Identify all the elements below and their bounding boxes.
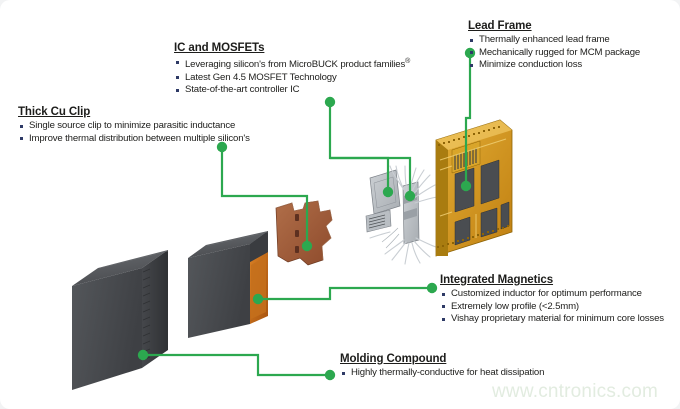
dot-integrated-magnetics-label — [427, 283, 437, 293]
bullet-item: Single source clip to minimize parasitic… — [18, 120, 250, 133]
callout-bullets-thick-cu-clip: Single source clip to minimize parasitic… — [18, 120, 250, 145]
bullet-item: Mechanically rugged for MCM package — [468, 47, 640, 60]
dot-thick-cu-clip-part — [302, 241, 312, 251]
dot-ic-mosfets-label — [325, 97, 335, 107]
bullet-item: State-of-the-art controller IC — [174, 84, 410, 97]
callout-bullets-lead-frame: Thermally enhanced lead frame Mechanical… — [468, 34, 640, 72]
dot-silicon-die-b — [405, 191, 415, 201]
callout-title-lead-frame: Lead Frame — [468, 20, 640, 32]
callout-title-ic-and-mosfets: IC and MOSFETs — [174, 42, 410, 54]
callout-bullets-integrated-magnetics: Customized inductor for optimum performa… — [440, 288, 664, 326]
dot-lead-frame-part — [461, 181, 471, 191]
dot-integrated-magnetics-part — [253, 294, 263, 304]
bullet-item: Minimize conduction loss — [468, 59, 640, 72]
bullet-item: Thermally enhanced lead frame — [468, 34, 640, 47]
callout-bullets-molding-compound: Highly thermally-conductive for heat dis… — [340, 367, 544, 380]
thick-cu-clip-part — [276, 201, 332, 265]
connector-molding-compound — [143, 355, 330, 375]
bullet-item: Latest Gen 4.5 MOSFET Technology — [174, 72, 410, 85]
dot-silicon-die-a — [383, 187, 393, 197]
callout-lead-frame: Lead Frame Thermally enhanced lead frame… — [468, 20, 640, 72]
callout-ic-and-mosfets: IC and MOSFETs Leveraging silicon's from… — [174, 42, 410, 97]
bullet-item: Vishay proprietary material for minimum … — [440, 313, 664, 326]
registered-mark: ® — [405, 58, 410, 65]
callout-bullets-ic-and-mosfets: Leveraging silicon's from MicroBUCK prod… — [174, 56, 410, 97]
dot-molding-compound-part — [138, 350, 148, 360]
diagram-card: IC and MOSFETs Leveraging silicon's from… — [0, 0, 680, 409]
callout-title-integrated-magnetics: Integrated Magnetics — [440, 274, 664, 286]
callout-integrated-magnetics: Integrated Magnetics Customized inductor… — [440, 274, 664, 326]
molding-compound-block — [72, 250, 168, 390]
callout-molding-compound: Molding Compound Highly thermally-conduc… — [340, 353, 544, 380]
bullet-item: Leveraging silicon's from MicroBUCK prod… — [174, 56, 410, 72]
bullet-item: Customized inductor for optimum performa… — [440, 288, 664, 301]
callout-thick-cu-clip: Thick Cu Clip Single source clip to mini… — [18, 106, 250, 145]
site-watermark: www.cntronics.com — [492, 381, 658, 403]
connector-integrated-magnetics — [258, 288, 432, 299]
lead-frame-panel — [436, 120, 512, 256]
silicon-die-part — [366, 166, 437, 264]
integrated-magnetics-block — [188, 231, 268, 338]
callout-title-molding-compound: Molding Compound — [340, 353, 544, 365]
callout-title-thick-cu-clip: Thick Cu Clip — [18, 106, 250, 118]
dot-molding-compound-label — [325, 370, 335, 380]
bullet-item: Highly thermally-conductive for heat dis… — [340, 367, 544, 380]
bullet-item: Improve thermal distribution between mul… — [18, 133, 250, 146]
bullet-item: Extremely low profile (<2.5mm) — [440, 301, 664, 314]
